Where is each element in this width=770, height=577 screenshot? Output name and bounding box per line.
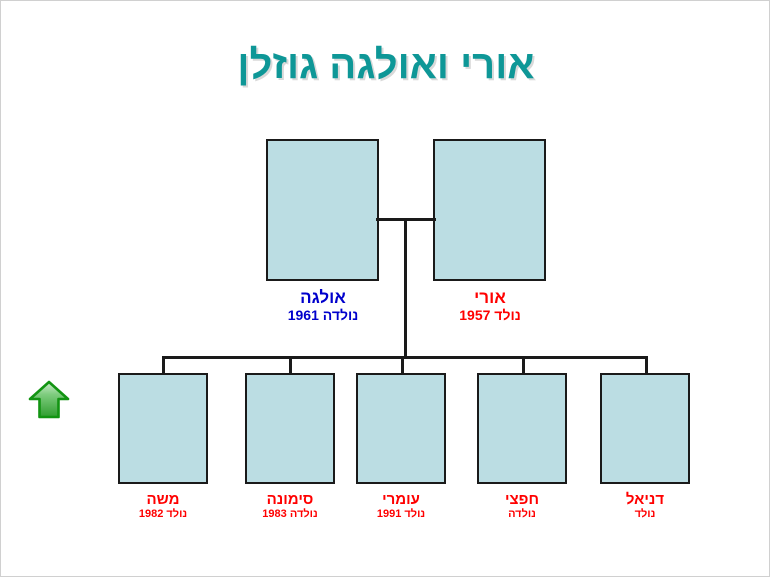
up-arrow-icon [27,379,71,421]
person-birth-omri: נולד 1991 [351,508,451,521]
person-birth-daniel: נולד [595,508,695,521]
person-label-omri: עומרי נולד 1991 [351,492,451,521]
children-bus-line [162,356,648,359]
person-box-heftzi[interactable] [477,373,567,484]
person-label-moshe: משה נולד 1982 [113,492,213,521]
marriage-connector-vertical [404,218,407,358]
person-birth-moshe: נולד 1982 [113,508,213,521]
family-tree-slide: אורי ואולגה גוזלן אולגה נולדה 1961 אורי … [0,0,770,577]
person-name-daniel: דניאל [595,492,695,508]
person-birth-uri: נולד 1957 [438,307,542,323]
person-birth-simona: נולדה 1983 [240,508,340,521]
person-name-moshe: משה [113,492,213,508]
person-label-simona: סימונה נולדה 1983 [240,492,340,521]
person-box-simona[interactable] [245,373,335,484]
person-name-heftzi: חפצי [472,492,572,508]
person-birth-olga: נולדה 1961 [271,307,375,323]
person-birth-heftzi: נולדה [472,508,572,521]
person-label-daniel: דניאל נולד [595,492,695,521]
person-name-simona: סימונה [240,492,340,508]
person-box-omri[interactable] [356,373,446,484]
person-label-olga: אולגה נולדה 1961 [271,289,375,323]
person-name-omri: עומרי [351,492,451,508]
person-box-daniel[interactable] [600,373,690,484]
up-arrow-button[interactable] [27,379,71,421]
person-label-uri: אורי נולד 1957 [438,289,542,323]
page-title: אורי ואולגה גוזלן [1,41,770,89]
person-label-heftzi: חפצי נולדה [472,492,572,521]
person-name-olga: אולגה [271,289,375,307]
person-box-uri[interactable] [433,139,546,281]
person-box-moshe[interactable] [118,373,208,484]
person-box-olga[interactable] [266,139,379,281]
person-name-uri: אורי [438,289,542,307]
